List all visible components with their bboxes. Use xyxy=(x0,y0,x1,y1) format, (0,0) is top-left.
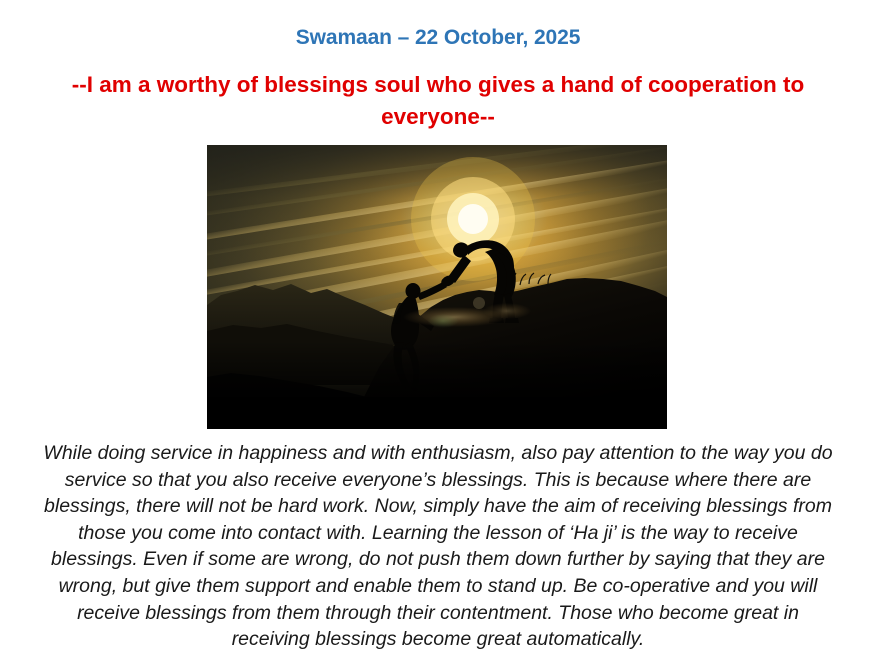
document-page: Swamaan – 22 October, 2025 --I am a wort… xyxy=(0,0,876,667)
page-title: Swamaan – 22 October, 2025 xyxy=(0,26,876,50)
sun xyxy=(411,157,535,281)
hero-photo xyxy=(207,145,667,429)
body-paragraph: While doing service in happiness and wit… xyxy=(40,440,836,653)
mountain-sunset-illustration xyxy=(207,145,667,429)
document-heading: --I am a worthy of blessings soul who gi… xyxy=(48,69,828,133)
